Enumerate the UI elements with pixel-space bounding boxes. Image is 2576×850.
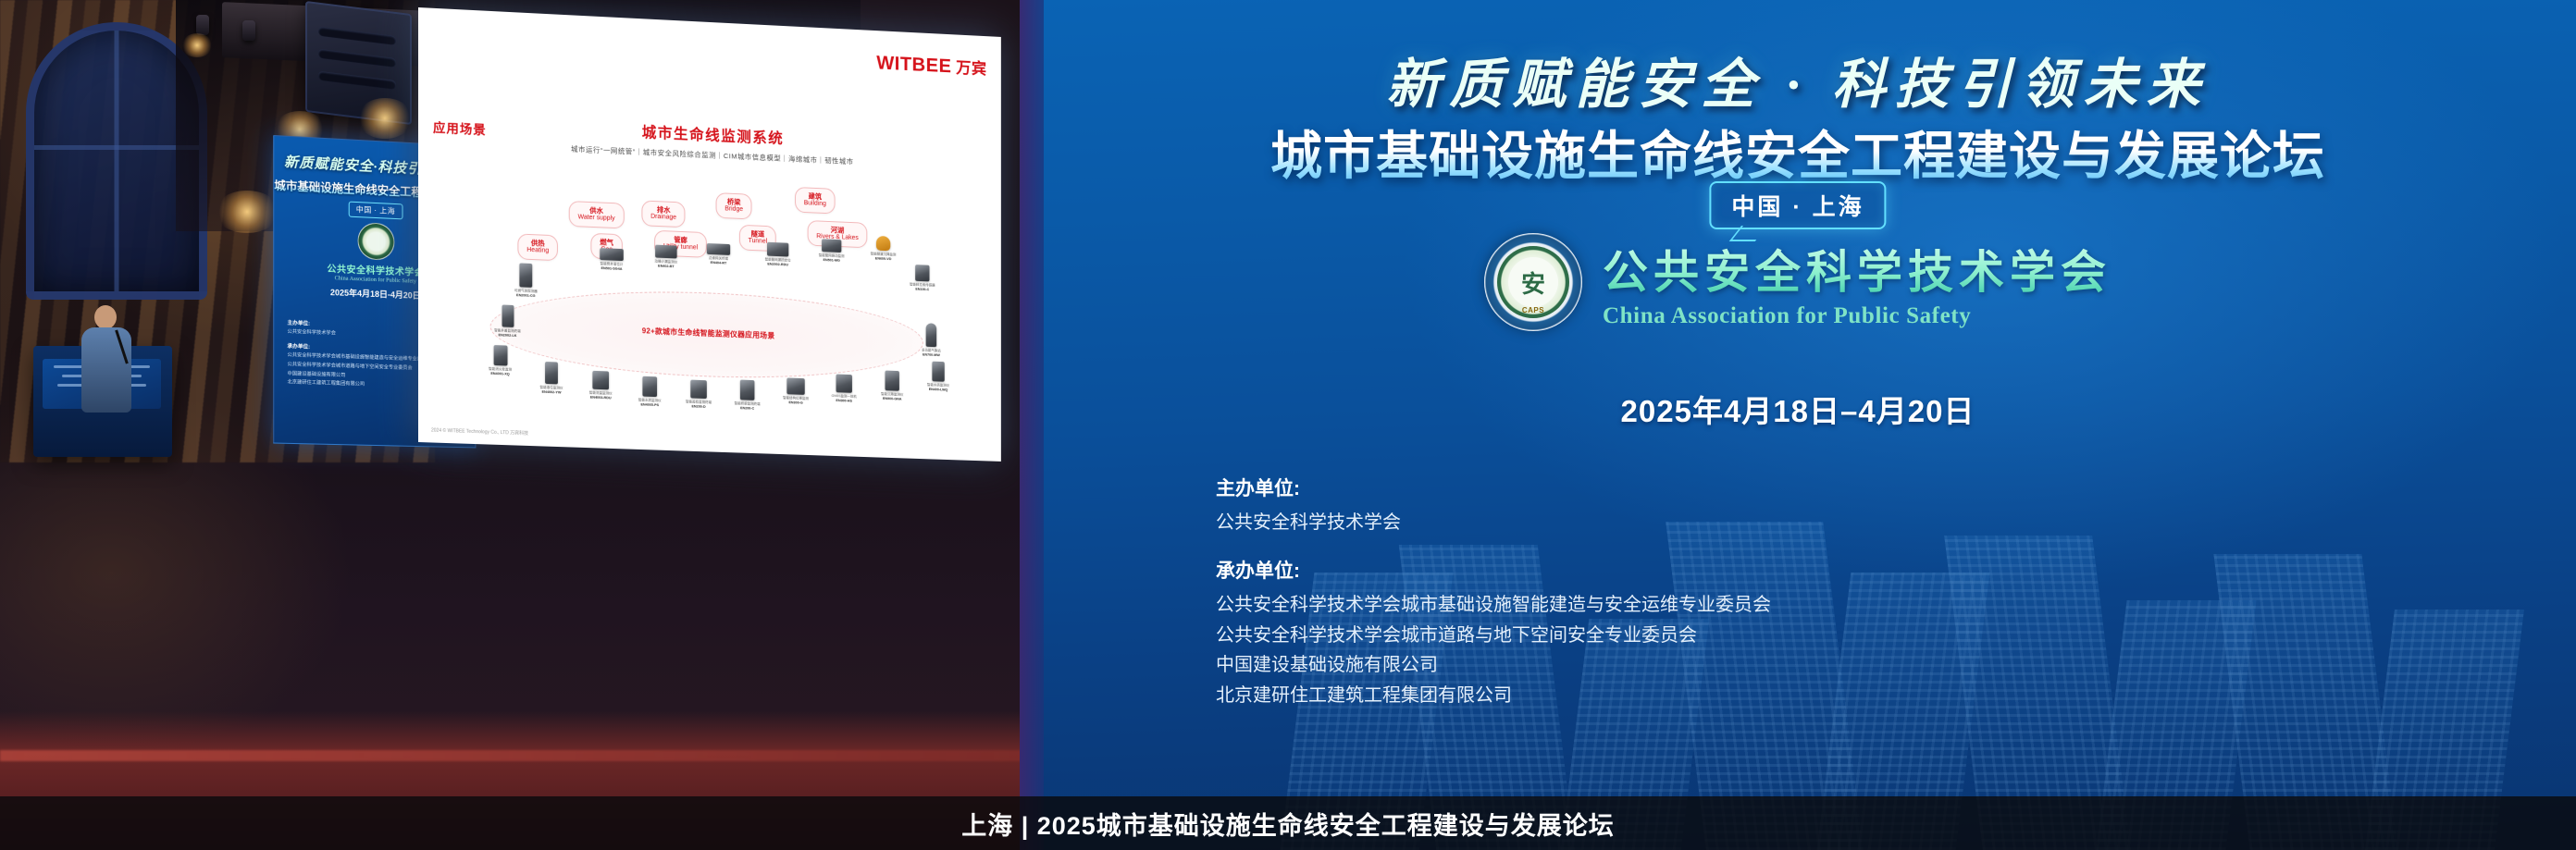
device-icon (502, 305, 514, 327)
device-item: 智能液位监测仪 EN4002-YW (530, 361, 572, 394)
device-icon (885, 371, 899, 391)
organizer-group: 承办单位: 公共安全科学技术学会城市基础设施智能建造与安全运维专业委员会 公共安… (1216, 556, 1771, 710)
device-icon (642, 376, 657, 397)
banner-location-chip: 中国 · 上海 (1709, 181, 1886, 229)
organizer-line: 中国建设基础设施有限公司 (1216, 650, 1771, 680)
device-item: 智能巡检监测终端 EN200-D (678, 379, 720, 409)
device-icon (915, 265, 929, 281)
banner-forum-title: 城市基础设施生命线安全工程建设与发展论坛 (1020, 115, 2576, 190)
banner-association-cn: 公共安全科学技术学会 (1603, 236, 2112, 302)
device-ellipse-label: 92+款城市生命线智能监测仪器应用场景 (491, 320, 923, 347)
scenario-label-en: Bridge (724, 206, 743, 215)
device-icon (786, 377, 804, 394)
presenter-body (81, 327, 131, 413)
device-model: EN4001-XQ (479, 371, 522, 376)
device-item: 可燃气体探测器 EN2001-CG (505, 263, 548, 299)
caps-seal-abbr: CAPS (1484, 306, 1582, 314)
device-item: 多功能气象站 EN700-MW (910, 323, 951, 358)
device-icon (767, 242, 788, 257)
device-icon (932, 362, 944, 382)
device-item: GNSS监测一体机 EN300-HS (824, 374, 864, 403)
caps-seal-glyph: 安 (1508, 257, 1558, 307)
device-model: EN4005-PS (629, 402, 671, 408)
device-model: EN300-HS (824, 398, 864, 403)
banner-association-text: 公共安全科学技术学会 China Association for Public … (1603, 236, 2112, 329)
host-group: 主办单位: 公共安全科学技术学会 (1216, 474, 1771, 537)
device-icon (926, 323, 936, 347)
device-icon (707, 243, 730, 255)
device-item: 智能流量监测仪 EN4003-RDU (580, 370, 622, 400)
device-icon (655, 245, 676, 259)
scenario-label-en: Heating (526, 247, 549, 256)
scenario-pill-bridge: 桥梁 Bridge (716, 192, 752, 219)
slide-content: WITBEE万宾 应用场景 城市生命线监测系统 城市运行“一网统管”｜城市安全风… (418, 7, 1001, 462)
organizer-line: 公共安全科学技术学会城市基础设施智能建造与安全运维专业委员会 (1216, 590, 1771, 620)
device-model: EN4002-YW (530, 389, 572, 395)
device-item: 智能沉降监测仪 EN900-GNA (872, 370, 912, 401)
device-icon (836, 375, 852, 393)
scenario-pill-heating: 供热 Heating (517, 233, 558, 261)
scenario-label-en: Water supply (578, 215, 615, 224)
device-icon (545, 362, 558, 384)
banner-association-row: 安 CAPS 公共安全科学技术学会 China Association for … (1020, 233, 2576, 331)
witbee-wordmark: WITBEE (876, 53, 951, 78)
scenario-pill-drainage: 排水 Drainage (641, 200, 685, 228)
device-item: 智能水质监测仪 EN400-LWQ (918, 361, 959, 392)
device-item: 智能斜拉索传感器 EN100-C (902, 265, 943, 292)
banner-calligraphy-slogan: 新质赋能安全 · 科技引领未来 (1020, 41, 2576, 118)
device-item: 智能水质监测仪 EN4005-PS (629, 376, 671, 407)
banner-association-en: China Association for Public Safety (1603, 303, 2112, 329)
banner-date: 2025年4月18日–4月20日 (1020, 387, 2576, 431)
warm-light-glow (181, 33, 213, 57)
device-model: EN200-D (678, 404, 720, 410)
device-model: EN2001-CG (505, 293, 548, 299)
presenter-person (80, 305, 133, 435)
scenario-label-en: Building (804, 201, 826, 210)
organizer-label: 承办单位: (1216, 556, 1771, 584)
caps-seal-icon: 安 CAPS (1484, 233, 1582, 331)
device-item: 智能井盖监测终端 EN2002-LK (487, 304, 529, 338)
device-model: EN200-C (726, 406, 768, 412)
device-item: 智能桥梁监测终端 EN200-C (726, 379, 768, 411)
slide-copyright: 2024 © WITBEE Technology Co., LTD 万宾科技 (431, 426, 528, 437)
device-icon (519, 263, 532, 287)
warm-light-glow (215, 191, 279, 233)
spotlight-fixture (196, 15, 209, 35)
witbee-wordmark-cn: 万宾 (956, 59, 986, 78)
host-line: 公共安全科学技术学会 (1216, 508, 1771, 537)
device-item: 动噪计漏监测仪 EN402-BT (645, 244, 687, 268)
device-model: EN900-GNA (872, 396, 912, 400)
device-icon (690, 380, 707, 399)
presenter-head (94, 305, 117, 329)
device-model: EN300-G (775, 400, 817, 406)
device-icon (493, 345, 507, 365)
device-icon (876, 236, 890, 251)
device-item: 智能消火栓监测 EN4001-XQ (479, 344, 522, 376)
device-model: EN400-LWQ (918, 387, 959, 392)
warm-light-glow (357, 98, 413, 139)
device-model: EN4003-RDU (580, 395, 622, 400)
scenario-pill-building: 建筑 Building (795, 187, 835, 215)
device-model: EN100-C (902, 287, 943, 292)
side-screen-location-chip: 中国 · 上海 (349, 202, 402, 220)
conference-photo: 新质赋能安全·科技引领未来 城市基础设施生命线安全工程建设与发展论坛 中国 · … (0, 0, 2576, 850)
device-item: 智能管网振动监测 EN501-MG (811, 239, 852, 263)
device-model: EN2002-LK (487, 333, 529, 339)
host-label: 主办单位: (1216, 474, 1771, 501)
caps-seal-icon (357, 222, 394, 261)
device-item: 边缘网关终端 EN404-RT (698, 243, 739, 265)
device-item: 智能隧道沉降监测 EN600-VD (862, 235, 903, 261)
device-item: 智能窨井液位计 EN501-SG4A (590, 248, 632, 272)
organizer-line: 公共安全科学技术学会城市道路与地下空间安全专业委员会 (1216, 621, 1771, 650)
device-item: 智能结构位移监测 EN300-G (775, 377, 817, 405)
organizer-line: 北京建研住工建筑工程集团有限公司 (1216, 681, 1771, 710)
device-item: 智能管网漏损定位 EN2002-RDU (757, 241, 799, 266)
witbee-logo: WITBEE万宾 (876, 51, 986, 80)
bottom-caption-bar: 上海 | 2025城市基础设施生命线安全工程建设与发展论坛 (0, 796, 2576, 850)
spotlight-fixture (242, 20, 255, 41)
main-projection-screen: WITBEE万宾 应用场景 城市生命线监测系统 城市运行“一网统管”｜城市安全风… (418, 7, 1001, 462)
forum-banner: 新质赋能安全 · 科技引领未来 城市基础设施生命线安全工程建设与发展论坛 中国 … (1020, 0, 2576, 850)
scenario-pill-water-supply: 供水 Water supply (569, 201, 625, 228)
side-screen-association-block: 公共安全科学技术学会 China Association for Public … (327, 221, 424, 285)
scenario-label-en: Drainage (650, 214, 676, 223)
device-icon (822, 239, 841, 253)
device-icon (600, 248, 624, 261)
device-icon (740, 380, 755, 400)
device-model: EN700-MW (910, 352, 951, 358)
banner-organizers: 主办单位: 公共安全科学技术学会 承办单位: 公共安全科学技术学会城市基础设施智… (1216, 474, 1771, 729)
caption-text: 上海 | 2025城市基础设施生命线安全工程建设与发展论坛 (961, 806, 1615, 842)
device-icon (592, 371, 609, 389)
